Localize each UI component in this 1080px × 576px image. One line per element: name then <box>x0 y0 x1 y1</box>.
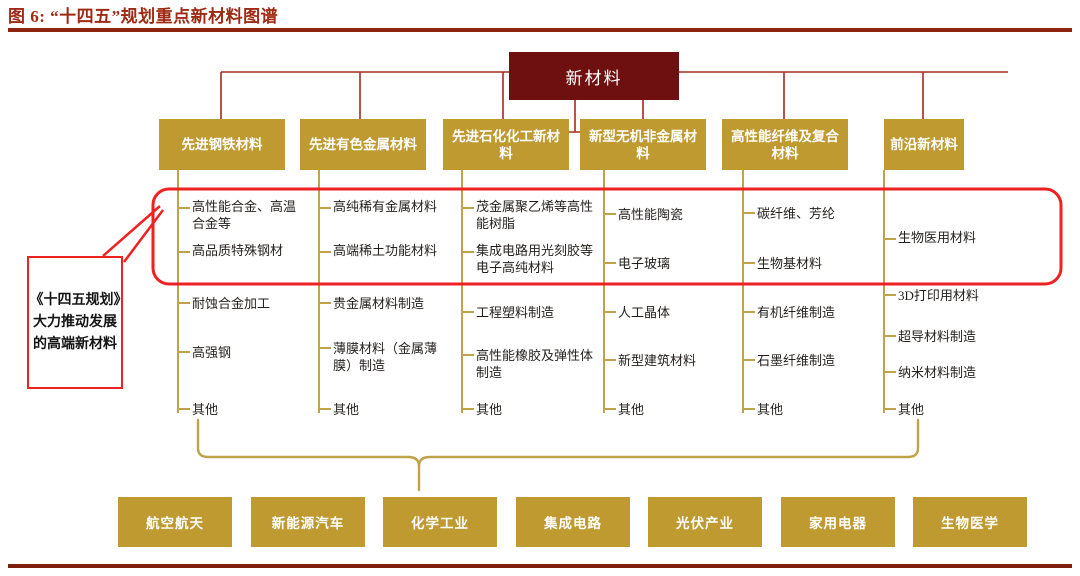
application-box-3[interactable]: 化学工业 <box>383 497 497 547</box>
leaf-item-3-5[interactable]: 其他 <box>476 401 598 418</box>
application-box-1[interactable]: 航空航天 <box>118 497 232 547</box>
application-label-1: 航空航天 <box>146 512 204 532</box>
leaf-item-1-4[interactable]: 高强钢 <box>192 344 304 361</box>
category-label-1: 先进钢铁材料 <box>182 136 263 153</box>
leaf-item-2-1[interactable]: 高纯稀有金属材料 <box>333 198 441 215</box>
application-label-5: 光伏产业 <box>676 512 734 532</box>
application-box-5[interactable]: 光伏产业 <box>648 497 762 547</box>
category-label-4: 新型无机非金属材料 <box>583 128 703 162</box>
application-label-4: 集成电路 <box>544 512 602 532</box>
leaf-item-6-2[interactable]: 3D打印用材料 <box>898 287 1022 304</box>
leaf-item-4-2[interactable]: 电子玻璃 <box>618 255 736 272</box>
leaf-item-3-2[interactable]: 集成电路用光刻胶等电子高纯材料 <box>476 242 602 276</box>
leaf-item-5-5[interactable]: 其他 <box>757 401 881 418</box>
leaf-item-2-3[interactable]: 贵金属材料制造 <box>333 295 441 312</box>
leaf-item-1-5[interactable]: 其他 <box>192 401 304 418</box>
leaf-item-3-3[interactable]: 工程塑料制造 <box>476 304 598 321</box>
root-node-label: 新材料 <box>566 64 623 89</box>
leaf-item-3-4[interactable]: 高性能橡胶及弹性体制造 <box>476 347 598 381</box>
category-box-1[interactable]: 先进钢铁材料 <box>159 119 285 170</box>
category-label-5: 高性能纤维及复合材料 <box>725 128 845 162</box>
application-box-7[interactable]: 生物医学 <box>913 497 1027 547</box>
application-box-2[interactable]: 新能源汽车 <box>251 497 365 547</box>
application-box-4[interactable]: 集成电路 <box>516 497 630 547</box>
application-box-6[interactable]: 家用电器 <box>781 497 895 547</box>
figure-canvas: 图 6: “十四五”规划重点新材料图谱 新材料 先进钢铁材料 先进有色金属材料 … <box>0 0 1080 576</box>
leaf-item-6-5[interactable]: 其他 <box>898 401 1022 418</box>
leaf-item-2-4[interactable]: 薄膜材料（金属薄膜）制造 <box>333 340 445 374</box>
leaf-item-1-1[interactable]: 高性能合金、高温合金等 <box>192 198 304 232</box>
category-box-5[interactable]: 高性能纤维及复合材料 <box>722 119 848 170</box>
leaf-item-4-4[interactable]: 新型建筑材料 <box>618 352 736 369</box>
leaf-item-1-3[interactable]: 耐蚀合金加工 <box>192 295 310 312</box>
application-label-7: 生物医学 <box>941 512 999 532</box>
page-title: 图 6: “十四五”规划重点新材料图谱 <box>8 2 278 27</box>
application-label-6: 家用电器 <box>809 512 867 532</box>
category-label-3: 先进石化化工新材料 <box>446 128 566 162</box>
leaf-item-5-2[interactable]: 生物基材料 <box>757 255 881 272</box>
leaf-item-5-4[interactable]: 石墨纤维制造 <box>757 352 881 369</box>
leaf-item-2-2[interactable]: 高端稀土功能材料 <box>333 242 441 259</box>
callout-box[interactable]: 《十四五规划》大力推动发展的高端新材料 <box>27 256 123 389</box>
footer-divider <box>8 564 1072 568</box>
leaf-item-5-3[interactable]: 有机纤维制造 <box>757 304 881 321</box>
title-divider <box>8 28 1072 32</box>
leaf-item-6-3[interactable]: 超导材料制造 <box>898 328 1022 345</box>
leaf-item-2-5[interactable]: 其他 <box>333 401 441 418</box>
category-box-3[interactable]: 先进石化化工新材料 <box>443 119 569 170</box>
leaf-item-6-1[interactable]: 生物医用材料 <box>898 229 990 246</box>
category-box-4[interactable]: 新型无机非金属材料 <box>580 119 706 170</box>
category-box-6[interactable]: 前沿新材料 <box>884 119 964 170</box>
application-label-3: 化学工业 <box>411 512 469 532</box>
leaf-item-4-3[interactable]: 人工晶体 <box>618 304 736 321</box>
application-label-2: 新能源汽车 <box>272 512 345 532</box>
category-label-2: 先进有色金属材料 <box>309 136 417 153</box>
callout-label: 《十四五规划》大力推动发展的高端新材料 <box>29 290 121 356</box>
category-box-2[interactable]: 先进有色金属材料 <box>300 119 426 170</box>
leaf-item-6-4[interactable]: 纳米材料制造 <box>898 364 1022 381</box>
leaf-item-1-2[interactable]: 高品质特殊钢材 <box>192 242 304 259</box>
category-label-6: 前沿新材料 <box>890 136 958 153</box>
leaf-item-5-1[interactable]: 碳纤维、芳纶 <box>757 205 881 222</box>
leaf-item-4-1[interactable]: 高性能陶瓷 <box>618 206 736 223</box>
leaf-item-3-1[interactable]: 茂金属聚乙烯等高性能树脂 <box>476 198 598 232</box>
leaf-item-4-5[interactable]: 其他 <box>618 401 736 418</box>
root-node-new-materials[interactable]: 新材料 <box>509 52 679 100</box>
